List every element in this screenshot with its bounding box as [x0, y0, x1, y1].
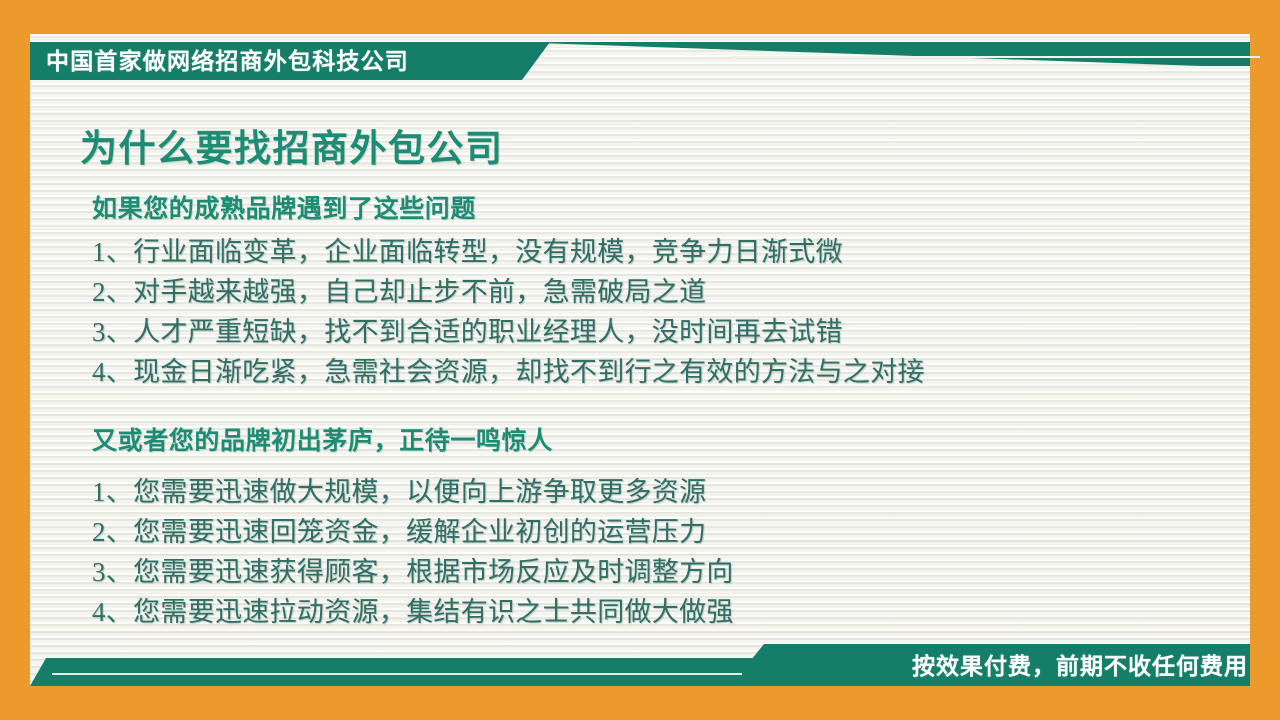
list-item: 4、您需要迅速拉动资源，集结有识之士共同做大做强: [92, 592, 734, 632]
header-tagline: 中国首家做网络招商外包科技公司: [46, 42, 409, 80]
list-item: 2、您需要迅速回笼资金，缓解企业初创的运营压力: [92, 512, 734, 552]
list-item: 3、您需要迅速获得顾客，根据市场反应及时调整方向: [92, 552, 734, 592]
list-item: 1、您需要迅速做大规模，以便向上游争取更多资源: [92, 472, 734, 512]
list-item: 1、行业面临变革，企业面临转型，没有规模，竞争力日渐式微: [92, 232, 925, 272]
problem-list: 1、行业面临变革，企业面临转型，没有规模，竞争力日渐式微 2、对手越来越强，自己…: [92, 232, 925, 392]
header-hairline-rule: [730, 56, 1260, 58]
section-heading-startup: 又或者您的品牌初出茅庐，正待一鸣惊人: [92, 421, 553, 457]
header-band-stripe: [510, 42, 1250, 66]
footer-band-stripe: [30, 658, 770, 686]
slide-root: 中国首家做网络招商外包科技公司 为什么要找招商外包公司 如果您的成熟品牌遇到了这…: [0, 0, 1280, 720]
footer-hairline-rule: [52, 673, 742, 675]
list-item: 2、对手越来越强，自己却止步不前，急需破局之道: [92, 272, 925, 312]
list-item: 3、人才严重短缺，找不到合适的职业经理人，没时间再去试错: [92, 312, 925, 352]
list-item: 4、现金日渐吃紧，急需社会资源，却找不到行之有效的方法与之对接: [92, 352, 925, 392]
page-title: 为什么要找招商外包公司: [80, 118, 504, 172]
section-heading-problems: 如果您的成熟品牌遇到了这些问题: [92, 189, 476, 225]
startup-needs-list: 1、您需要迅速做大规模，以便向上游争取更多资源 2、您需要迅速回笼资金，缓解企业…: [92, 472, 734, 632]
footer-tagline: 按效果付费，前期不收任何费用: [912, 644, 1248, 686]
